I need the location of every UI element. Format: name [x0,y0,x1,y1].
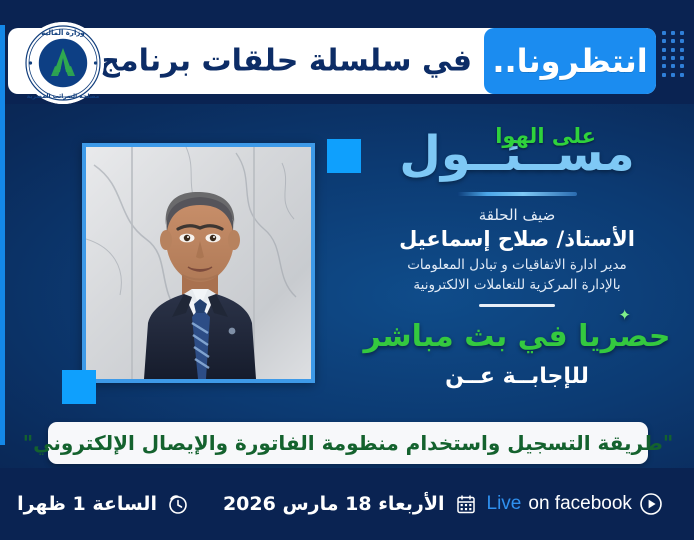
header-highlight-chip: انتظرونا.. [484,28,656,94]
topic-text: "طريقة التسجيل واستخدام منظومة الفاتورة … [23,431,674,455]
header-highlight-text: انتظرونا.. [492,42,647,80]
accent-square-right [327,139,361,173]
program-info-column: مســئــول على الهوا ضيف الحلقة الأستاذ/ … [352,126,682,389]
svg-text:مصلحة الضرائب المصرية: مصلحة الضرائب المصرية [27,93,100,100]
event-date-text: الأربعاء 18 مارس 2026 [223,493,445,515]
answer-line-text: للإجابــة عــن [352,364,682,389]
facebook-live-block[interactable]: Live on facebook [487,492,663,516]
header-main-text: في سلسلة حلقات برنامج [98,44,472,79]
live-word-text: Live [487,493,522,515]
left-edge-accent [0,25,5,445]
platform-words-text: on facebook [528,493,632,515]
dot-grid-decoration [660,30,686,78]
program-title-overlay: على الهوا [495,124,596,148]
clock-icon [167,493,189,515]
program-title-row: مســئــول على الهوا [352,126,682,182]
poster-root: انتظرونا.. في سلسلة حلقات برنامج وزارة ا… [0,0,694,540]
svg-text:وزارة المالية: وزارة المالية [41,29,84,37]
event-time-text: الساعة 1 ظهرا [17,493,157,515]
sparkle-icon: ✦ [618,306,630,324]
calendar-icon [455,493,477,515]
play-circle-icon[interactable] [639,492,663,516]
guest-label: ضيف الحلقة [352,206,682,224]
header-banner: انتظرونا.. في سلسلة حلقات برنامج [8,28,656,94]
divider-blue [457,192,577,196]
guest-name: الأستاذ/ صلاح إسماعيل [352,227,682,251]
guest-portrait-photo [82,143,315,383]
footer-bar: الساعة 1 ظهرا الأربعاء 18 مارس 2026 [0,468,694,540]
topic-banner: "طريقة التسجيل واستخدام منظومة الفاتورة … [48,422,648,464]
guest-role-line-2: بالإدارة المركزية للتعاملات الالكترونية [352,275,682,295]
accent-square-left [62,370,96,404]
divider-white [479,304,555,307]
live-exclusive-text: ✦ حصريا في بث مباشر [352,319,682,354]
guest-role-line-1: مدير ادارة الاتفاقيات و تبادل المعلومات [352,255,682,275]
egyptian-tax-authority-logo: وزارة المالية مصلحة الضرائب المصرية [22,22,104,104]
